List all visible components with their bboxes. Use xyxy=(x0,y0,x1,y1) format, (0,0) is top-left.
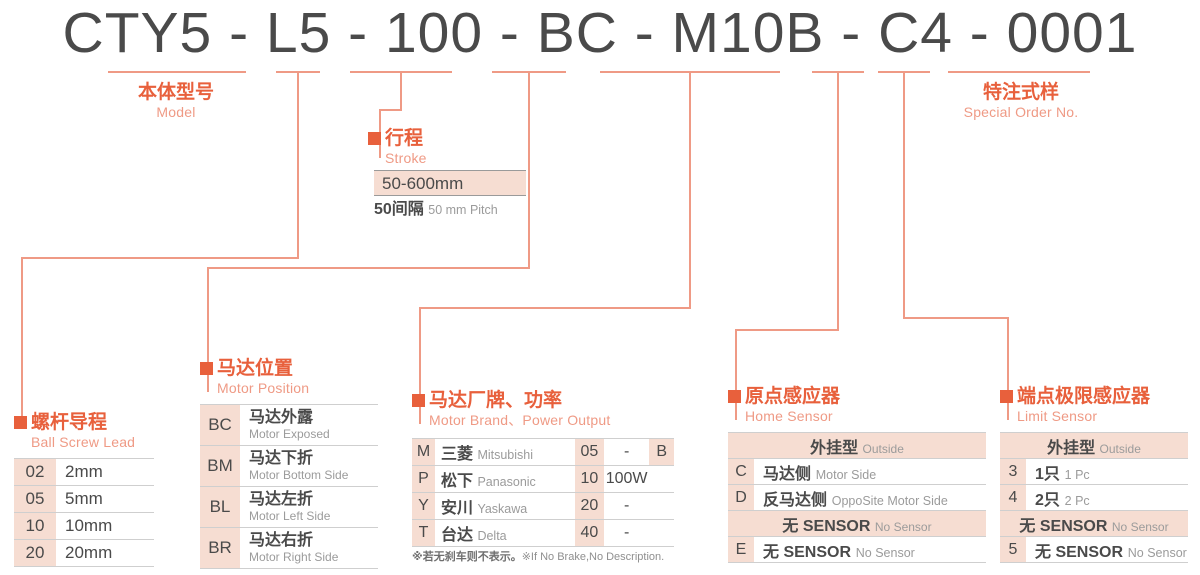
motor-position-desc-cn: 马达外露 xyxy=(249,409,378,427)
table-row: 20 20mm xyxy=(14,540,154,567)
limit-sensor-band-cn: 外挂型 xyxy=(1047,440,1095,457)
table-row-band: 外挂型 Outside xyxy=(728,433,986,459)
home-sensor-band: 无 SENSOR No Sensor xyxy=(728,511,986,537)
table-row: 4 2只 2 Pc xyxy=(1000,485,1188,511)
bullet-square-icon xyxy=(368,132,381,145)
motor-brand-note-cn: ※若无刹车则不表示。 xyxy=(412,551,522,563)
motor-brand-table: M 三菱 Mitsubishi 05 - B P 松下 Panasonic 10… xyxy=(412,438,674,547)
stroke-range-value: 50-600mm xyxy=(374,170,526,196)
motor-position-label-en: Motor Position xyxy=(200,380,309,397)
group-label-ball-screw-lead: 螺杆导程 Ball Screw Lead xyxy=(14,412,135,451)
limit-sensor-band-en: No Sensor xyxy=(1112,520,1169,534)
limit-sensor-band: 无 SENSOR No Sensor xyxy=(1000,511,1188,537)
table-row: BL 马达左折 Motor Left Side xyxy=(200,487,378,528)
brand-name-en: Yaskawa xyxy=(477,502,527,516)
stroke-pitch-en: 50 mm Pitch xyxy=(428,203,497,217)
motor-brand-label-cn-text: 马达厂牌、功率 xyxy=(429,390,562,411)
stroke-label-cn-text: 行程 xyxy=(385,128,423,149)
power-code: 40 xyxy=(575,520,604,547)
stroke-label-en: Stroke xyxy=(368,150,427,167)
table-row: T 台达 Delta 40 - xyxy=(412,520,674,547)
brand-name-cn: 安川 xyxy=(441,500,473,517)
model-label-en: Model xyxy=(106,104,246,121)
power-code: 20 xyxy=(575,493,604,520)
brake-code xyxy=(649,466,674,493)
home-sensor-desc-en: No Sensor xyxy=(856,546,915,560)
home-sensor-table: 外挂型 Outside C 马达侧 Motor Side D 反马达侧 Oppo… xyxy=(728,432,986,563)
limit-sensor-desc: 2只 2 Pc xyxy=(1026,485,1188,511)
table-row: 3 1只 1 Pc xyxy=(1000,459,1188,485)
lead-value: 20mm xyxy=(56,540,154,567)
limit-sensor-label-cn-text: 端点极限感应器 xyxy=(1017,386,1150,407)
limit-sensor-desc-en: No Sensor xyxy=(1128,546,1187,560)
stroke-label-cn: 行程 xyxy=(368,128,427,150)
limit-sensor-desc-cn: 1只 xyxy=(1035,466,1060,483)
motor-position-desc-en: Motor Exposed xyxy=(249,427,378,441)
limit-sensor-table: 外挂型 Outside 3 1只 1 Pc 4 2只 2 Pc 无 SENSOR… xyxy=(1000,432,1188,563)
motor-position-desc-cn: 马达右折 xyxy=(249,532,378,550)
home-sensor-desc-en: Motor Side xyxy=(816,468,876,482)
power-value: 100W xyxy=(604,466,650,493)
group-label-home-sensor: 原点感应器 Home Sensor xyxy=(728,386,840,425)
brand-name-en: Mitsubishi xyxy=(477,448,533,462)
group-label-motor-brand: 马达厂牌、功率 Motor Brand、Power Output xyxy=(412,390,610,429)
brand-name: 三菱 Mitsubishi xyxy=(435,439,575,466)
lead-code: 05 xyxy=(14,486,56,513)
home-sensor-desc-cn: 无 SENSOR xyxy=(763,544,851,561)
power-value: - xyxy=(604,520,650,547)
limit-sensor-code: 4 xyxy=(1000,485,1026,511)
motor-position-desc-cn: 马达下折 xyxy=(249,450,378,468)
bullet-square-icon xyxy=(14,416,27,429)
lead-code: 02 xyxy=(14,459,56,486)
group-label-special-order: 特注式样 Special Order No. xyxy=(942,82,1100,121)
motor-brand-note: ※若无刹车则不表示。※If No Brake,No Description. xyxy=(412,548,712,564)
part-number: CTY5 - L5 - 100 - BC - M10B - C4 - 0001 xyxy=(0,2,1200,64)
table-row: 10 10mm xyxy=(14,513,154,540)
power-value: - xyxy=(604,493,650,520)
group-label-stroke: 行程 Stroke xyxy=(368,128,427,167)
home-sensor-desc: 反马达侧 OppoSite Motor Side xyxy=(754,485,986,511)
motor-position-desc: 马达左折 Motor Left Side xyxy=(240,487,378,528)
table-row: BR 马达右折 Motor Right Side xyxy=(200,528,378,569)
brand-code: M xyxy=(412,439,435,466)
home-sensor-desc: 无 SENSOR No Sensor xyxy=(754,537,986,563)
home-sensor-code: D xyxy=(728,485,754,511)
stroke-pitch: 50间隔 50 mm Pitch xyxy=(374,201,594,219)
motor-position-desc-en: Motor Left Side xyxy=(249,509,378,523)
motor-brand-label-cn: 马达厂牌、功率 xyxy=(412,390,610,412)
home-sensor-label-cn-text: 原点感应器 xyxy=(745,386,840,407)
model-label-cn: 本体型号 xyxy=(106,82,246,104)
table-row-band: 无 SENSOR No Sensor xyxy=(1000,511,1188,537)
motor-position-desc-en: Motor Bottom Side xyxy=(249,468,378,482)
home-sensor-desc-en: OppoSite Motor Side xyxy=(832,494,948,508)
table-row: E 无 SENSOR No Sensor xyxy=(728,537,986,563)
brake-code xyxy=(649,520,674,547)
brand-name-cn: 三菱 xyxy=(441,446,473,463)
home-sensor-code: C xyxy=(728,459,754,485)
power-code: 05 xyxy=(575,439,604,466)
home-sensor-desc: 马达侧 Motor Side xyxy=(754,459,986,485)
brand-code: Y xyxy=(412,493,435,520)
brake-code xyxy=(649,493,674,520)
motor-position-table: BC 马达外露 Motor Exposed BM 马达下折 Motor Bott… xyxy=(200,404,378,569)
home-sensor-band: 外挂型 Outside xyxy=(728,433,986,459)
home-sensor-band-en: Outside xyxy=(863,442,904,456)
power-code: 10 xyxy=(575,466,604,493)
lead-value: 2mm xyxy=(56,459,154,486)
home-sensor-code: E xyxy=(728,537,754,563)
brand-name-cn: 台达 xyxy=(441,527,473,544)
motor-brand-label-en: Motor Brand、Power Output xyxy=(412,412,610,429)
brand-name: 安川 Yaskawa xyxy=(435,493,575,520)
table-row: M 三菱 Mitsubishi 05 - B xyxy=(412,439,674,466)
limit-sensor-code: 3 xyxy=(1000,459,1026,485)
brand-name-en: Delta xyxy=(477,529,506,543)
lead-code: 10 xyxy=(14,513,56,540)
ball-screw-lead-table: 02 2mm 05 5mm 10 10mm 20 20mm xyxy=(14,458,154,567)
special-order-label-en: Special Order No. xyxy=(942,104,1100,121)
motor-position-desc-cn: 马达左折 xyxy=(249,491,378,509)
table-row: Y 安川 Yaskawa 20 - xyxy=(412,493,674,520)
motor-position-desc: 马达外露 Motor Exposed xyxy=(240,405,378,446)
brand-name-en: Panasonic xyxy=(477,475,535,489)
limit-sensor-code: 5 xyxy=(1000,537,1026,563)
motor-position-label-cn-text: 马达位置 xyxy=(217,358,293,379)
brake-code: B xyxy=(649,439,674,466)
limit-sensor-desc-en: 2 Pc xyxy=(1065,494,1090,508)
limit-sensor-desc-en: 1 Pc xyxy=(1065,468,1090,482)
table-row: 02 2mm xyxy=(14,459,154,486)
table-row: C 马达侧 Motor Side xyxy=(728,459,986,485)
motor-position-code: BR xyxy=(200,528,240,569)
bullet-square-icon xyxy=(1000,390,1013,403)
motor-position-code: BM xyxy=(200,446,240,487)
limit-sensor-desc-cn: 2只 xyxy=(1035,492,1060,509)
ball-screw-lead-label-cn: 螺杆导程 xyxy=(14,412,135,434)
table-row: 5 无 SENSOR No Sensor xyxy=(1000,537,1188,563)
table-row: BC 马达外露 Motor Exposed xyxy=(200,405,378,446)
lead-value: 5mm xyxy=(56,486,154,513)
home-sensor-label-cn: 原点感应器 xyxy=(728,386,840,408)
group-label-model: 本体型号 Model xyxy=(106,82,246,121)
ball-screw-lead-label-en: Ball Screw Lead xyxy=(14,434,135,451)
bullet-square-icon xyxy=(200,362,213,375)
lead-value: 10mm xyxy=(56,513,154,540)
home-sensor-desc-cn: 反马达侧 xyxy=(763,492,827,509)
brand-code: P xyxy=(412,466,435,493)
motor-position-code: BC xyxy=(200,405,240,446)
limit-sensor-band-en: Outside xyxy=(1100,442,1141,456)
product-code-diagram: CTY5 - L5 - 100 - BC - M10B - C4 - 0001 … xyxy=(0,0,1200,575)
table-row: D 反马达侧 OppoSite Motor Side xyxy=(728,485,986,511)
brand-name: 松下 Panasonic xyxy=(435,466,575,493)
limit-sensor-desc: 1只 1 Pc xyxy=(1026,459,1188,485)
home-sensor-label-en: Home Sensor xyxy=(728,408,840,425)
home-sensor-desc-cn: 马达侧 xyxy=(763,466,811,483)
limit-sensor-label-en: Limit Sensor xyxy=(1000,408,1150,425)
power-value: - xyxy=(604,439,650,466)
motor-brand-note-en: ※If No Brake,No Description. xyxy=(522,551,665,563)
group-label-motor-position: 马达位置 Motor Position xyxy=(200,358,309,397)
ball-screw-lead-label-cn-text: 螺杆导程 xyxy=(31,412,107,433)
lead-code: 20 xyxy=(14,540,56,567)
limit-sensor-band: 外挂型 Outside xyxy=(1000,433,1188,459)
table-row: P 松下 Panasonic 10 100W xyxy=(412,466,674,493)
table-row: BM 马达下折 Motor Bottom Side xyxy=(200,446,378,487)
motor-position-desc: 马达下折 Motor Bottom Side xyxy=(240,446,378,487)
limit-sensor-label-cn: 端点极限感应器 xyxy=(1000,386,1150,408)
table-row-band: 外挂型 Outside xyxy=(1000,433,1188,459)
bullet-square-icon xyxy=(412,394,425,407)
brand-code: T xyxy=(412,520,435,547)
motor-position-code: BL xyxy=(200,487,240,528)
table-row-band: 无 SENSOR No Sensor xyxy=(728,511,986,537)
brand-name-cn: 松下 xyxy=(441,473,473,490)
stroke-pitch-cn: 50间隔 xyxy=(374,201,424,218)
limit-sensor-band-cn: 无 SENSOR xyxy=(1019,518,1107,535)
group-label-limit-sensor: 端点极限感应器 Limit Sensor xyxy=(1000,386,1150,425)
limit-sensor-desc: 无 SENSOR No Sensor xyxy=(1026,537,1188,563)
home-sensor-band-cn: 外挂型 xyxy=(810,440,858,457)
motor-position-desc: 马达右折 Motor Right Side xyxy=(240,528,378,569)
bullet-square-icon xyxy=(728,390,741,403)
special-order-label-cn: 特注式样 xyxy=(942,82,1100,104)
home-sensor-band-en: No Sensor xyxy=(875,520,932,534)
motor-position-desc-en: Motor Right Side xyxy=(249,550,378,564)
limit-sensor-desc-cn: 无 SENSOR xyxy=(1035,544,1123,561)
home-sensor-band-cn: 无 SENSOR xyxy=(782,518,870,535)
motor-position-label-cn: 马达位置 xyxy=(200,358,309,380)
brand-name: 台达 Delta xyxy=(435,520,575,547)
table-row: 05 5mm xyxy=(14,486,154,513)
